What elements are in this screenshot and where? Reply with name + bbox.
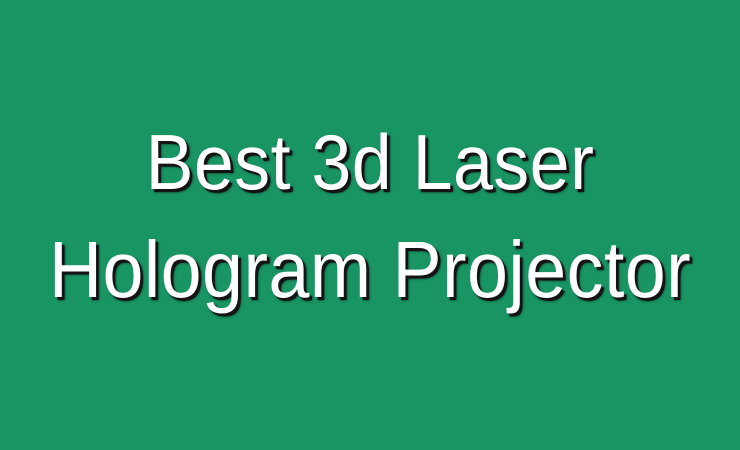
banner-title-line-1: Best 3d Laser	[30, 108, 711, 216]
banner-title: Best 3d Laser Hologram Projector	[0, 0, 740, 324]
banner-graphic: Best 3d Laser Hologram Projector	[0, 0, 740, 450]
banner-title-line-2: Hologram Projector	[30, 216, 711, 324]
